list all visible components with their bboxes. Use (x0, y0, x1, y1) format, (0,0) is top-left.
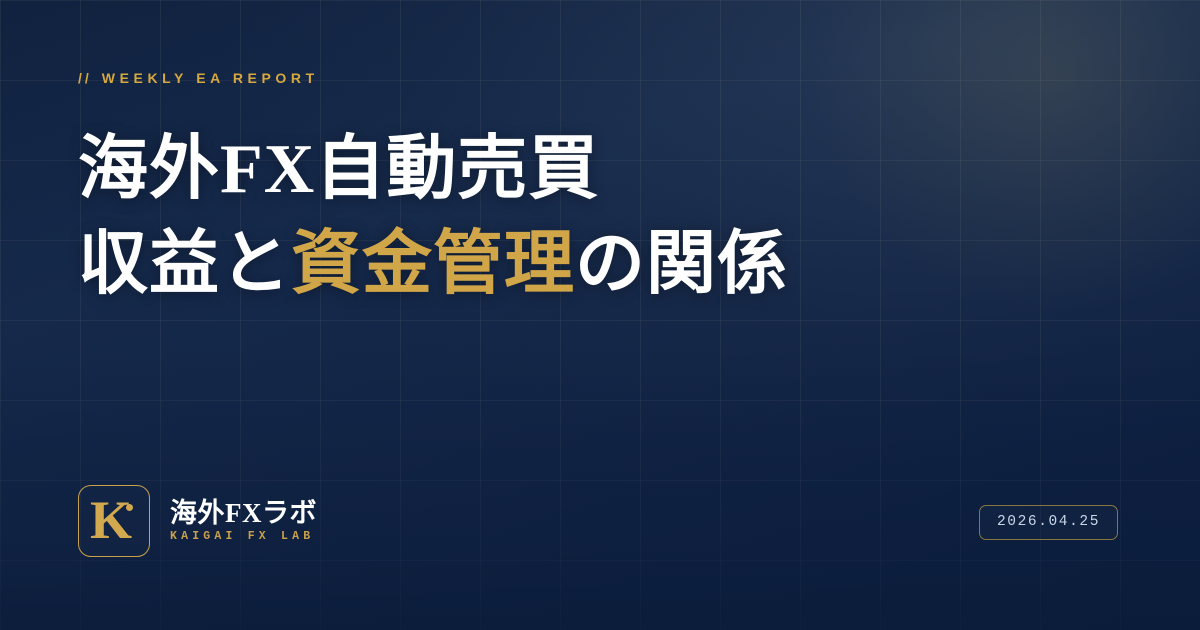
brand-name-jp: 海外FXラボ (170, 499, 317, 528)
title-line-2-pre: 収益と (78, 226, 291, 303)
brand-text-block: 海外FXラボ KAIGAI FX LAB (170, 499, 317, 543)
title-line-2-accent: 資金管理 (291, 226, 575, 303)
title-line-2: 収益と資金管理の関係 (78, 217, 788, 312)
title-line-2-post: の関係 (575, 226, 788, 303)
eyebrow-text: WEEKLY EA REPORT (102, 70, 319, 86)
brand-name-en: KAIGAI FX LAB (170, 530, 317, 543)
k-monogram-icon: K (78, 485, 150, 557)
date-badge-value: 2026.04.25 (997, 514, 1100, 530)
logo-letter: K (90, 493, 132, 547)
logo-dot-icon (126, 504, 133, 511)
date-badge: 2026.04.25 (979, 505, 1118, 540)
eyebrow-label: //WEEKLY EA REPORT (78, 70, 319, 86)
title-line-1: 海外FX自動売買 (78, 122, 788, 217)
page-title: 海外FX自動売買 収益と資金管理の関係 (78, 122, 788, 312)
eyebrow-slashes-icon: // (78, 70, 92, 86)
og-card-canvas: //WEEKLY EA REPORT 海外FX自動売買 収益と資金管理の関係 K… (0, 0, 1200, 630)
brand-lockup: K 海外FXラボ KAIGAI FX LAB (78, 485, 317, 557)
